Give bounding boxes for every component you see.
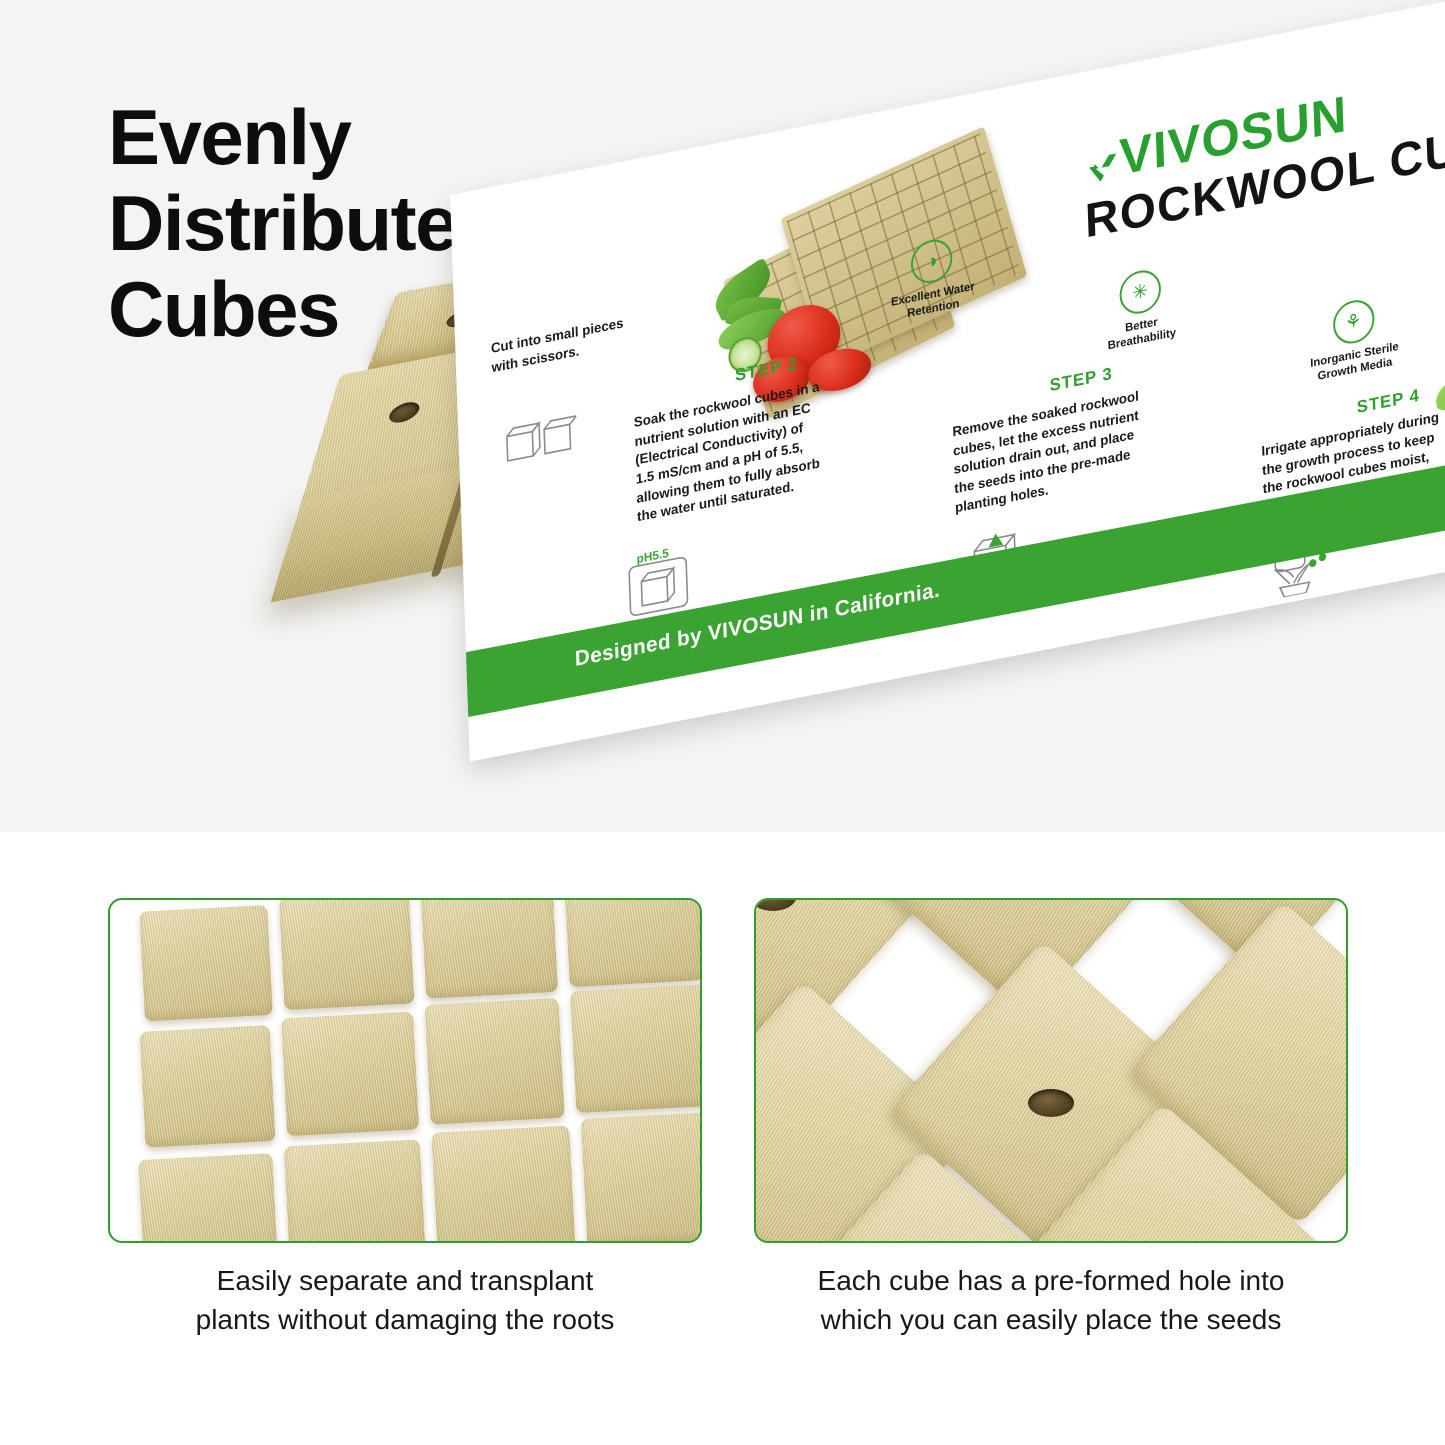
feature-caption: Better Breathability: [1087, 308, 1196, 358]
water-drop-icon: ◑: [910, 236, 953, 287]
rockwool-cube: [570, 984, 702, 1113]
instruction-card: VIVOSUN ROCKWOOL CUBES: [450, 0, 1445, 762]
photo-card-pre-formed-hole: [754, 898, 1348, 1243]
sterile-media-icon: ⚘: [1332, 297, 1375, 348]
photo-card-separate-transplant: [108, 898, 702, 1243]
rockwool-cube: [425, 998, 565, 1125]
feature-badge: ✳ Better Breathability: [1086, 260, 1197, 358]
rockwool-cube: [431, 1125, 575, 1243]
step-1-body: Cut into small pieces with scissors.: [491, 300, 698, 378]
vivosun-v-logo-icon: [1083, 148, 1117, 185]
cut-cube-icon: [503, 411, 577, 474]
cube-hole: [754, 898, 796, 911]
step-3-label: STEP 3: [1049, 364, 1113, 397]
rockwool-cube: [564, 898, 702, 987]
breathability-icon: ✳: [1119, 267, 1162, 318]
rockwool-cube: [581, 1112, 702, 1243]
rockwool-cube: [284, 1139, 426, 1243]
rockwool-cube: [281, 1012, 419, 1137]
rockwool-slab-assembly: VIVOSUN ROCKWOOL CUBES: [330, 110, 1445, 832]
hero-panel: Evenly Distributed Cubes: [0, 0, 1445, 832]
rockwool-cube: [279, 898, 415, 1010]
leaf-icon: [1434, 357, 1445, 413]
feature-badge: ⚘ Inorganic Sterile Growth Media: [1296, 290, 1412, 389]
caption-separate-transplant: Easily separate and transplant plants wi…: [108, 1262, 702, 1339]
rockwool-cube: [139, 905, 273, 1022]
rockwool-cube: [420, 898, 558, 999]
brand-lockup: VIVOSUN ROCKWOOL CUBES: [1082, 47, 1445, 246]
rockwool-cube: [140, 1025, 276, 1148]
cube-hole: [1028, 1089, 1074, 1117]
caption-pre-formed-hole: Each cube has a pre-formed hole into whi…: [754, 1262, 1348, 1339]
step-3-body: Remove the soaked rockwool cubes, let th…: [952, 378, 1189, 518]
step-2-body: Soak the rockwool cubes in a nutrient so…: [634, 370, 866, 527]
feature-caption: Inorganic Sterile Growth Media: [1298, 337, 1412, 388]
cube-grid-photo: [108, 898, 702, 1243]
rockwool-cube: [138, 1153, 278, 1243]
